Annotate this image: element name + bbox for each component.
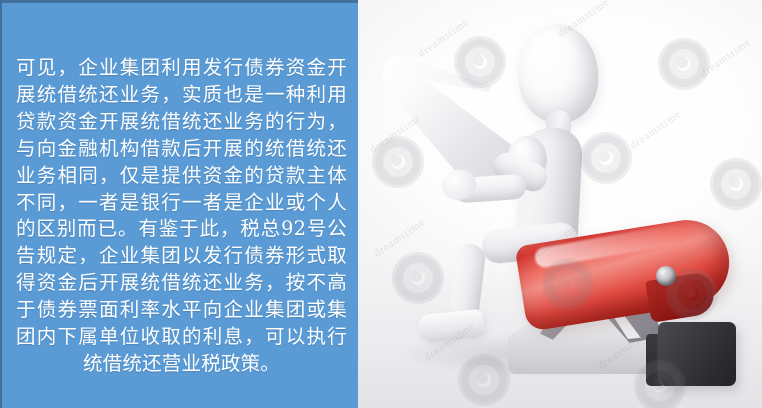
watermark-text: dreamstime bbox=[556, 0, 611, 40]
watermark-spiral-icon bbox=[580, 132, 632, 184]
watermark-spiral-icon bbox=[658, 38, 710, 90]
slide-canvas: dreamstimedreamstimedreamstimedreamstime… bbox=[0, 0, 762, 408]
panel-body-text: 可见，企业集团利用发行债券资金开展统借统还业务，实质也是一种利用贷款资金开展统借… bbox=[16, 55, 347, 378]
watermark-spiral-icon bbox=[666, 268, 718, 320]
watermark-spiral-icon bbox=[634, 360, 686, 408]
stock-photo-illustration: dreamstimedreamstimedreamstimedreamstime… bbox=[358, 0, 762, 408]
watermark-spiral-icon bbox=[392, 252, 444, 304]
watermark-spiral-icon bbox=[710, 158, 762, 210]
watermark-spiral-icon bbox=[542, 258, 594, 310]
watermark-spiral-icon bbox=[458, 354, 510, 406]
watermark-spiral-icon bbox=[454, 36, 506, 88]
watermark-text: dreamstime bbox=[628, 108, 683, 152]
blue-text-panel: 可见，企业集团利用发行债券资金开展统借统还业务，实质也是一种利用贷款资金开展统借… bbox=[0, 0, 358, 408]
